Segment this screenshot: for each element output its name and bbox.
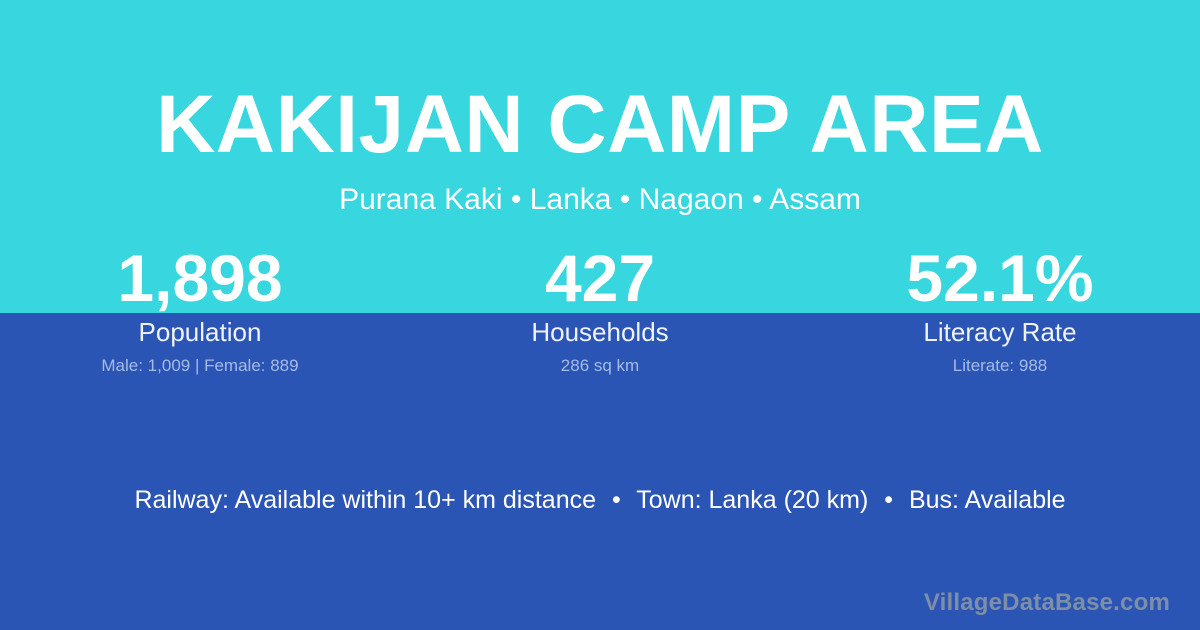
amenity-separator: •: [603, 484, 630, 516]
amenity-bus: Bus: Available: [909, 486, 1066, 514]
stat-literacy-rate: 52.1% Literacy Rate Literate: 988: [800, 242, 1200, 377]
page-title: KAKIJAN CAMP AREA: [0, 78, 1200, 172]
amenities-line: Railway: Available within 10+ km distanc…: [0, 484, 1200, 516]
stat-population: 1,898 Population Male: 1,009 | Female: 8…: [0, 242, 400, 377]
stat-label: Literacy Rate: [800, 316, 1200, 348]
amenity-town: Town: Lanka (20 km): [636, 486, 868, 514]
stat-label: Population: [0, 316, 400, 348]
village-info-card: KAKIJAN CAMP AREA Purana Kaki • Lanka • …: [0, 0, 1200, 630]
breadcrumb: Purana Kaki • Lanka • Nagaon • Assam: [0, 181, 1200, 219]
amenity-separator: •: [875, 484, 902, 516]
stats-row: 1,898 Population Male: 1,009 | Female: 8…: [0, 242, 1200, 377]
site-watermark: VillageDataBase.com: [924, 588, 1170, 618]
stat-value: 52.1%: [800, 242, 1200, 314]
stat-sublabel: Literate: 988: [800, 355, 1200, 377]
amenity-railway: Railway: Available within 10+ km distanc…: [134, 486, 596, 514]
stat-value: 427: [400, 242, 800, 314]
stat-value: 1,898: [0, 242, 400, 314]
stat-label: Households: [400, 316, 800, 348]
stat-households: 427 Households 286 sq km: [400, 242, 800, 377]
stat-sublabel: 286 sq km: [400, 355, 800, 377]
stat-sublabel: Male: 1,009 | Female: 889: [0, 355, 400, 377]
